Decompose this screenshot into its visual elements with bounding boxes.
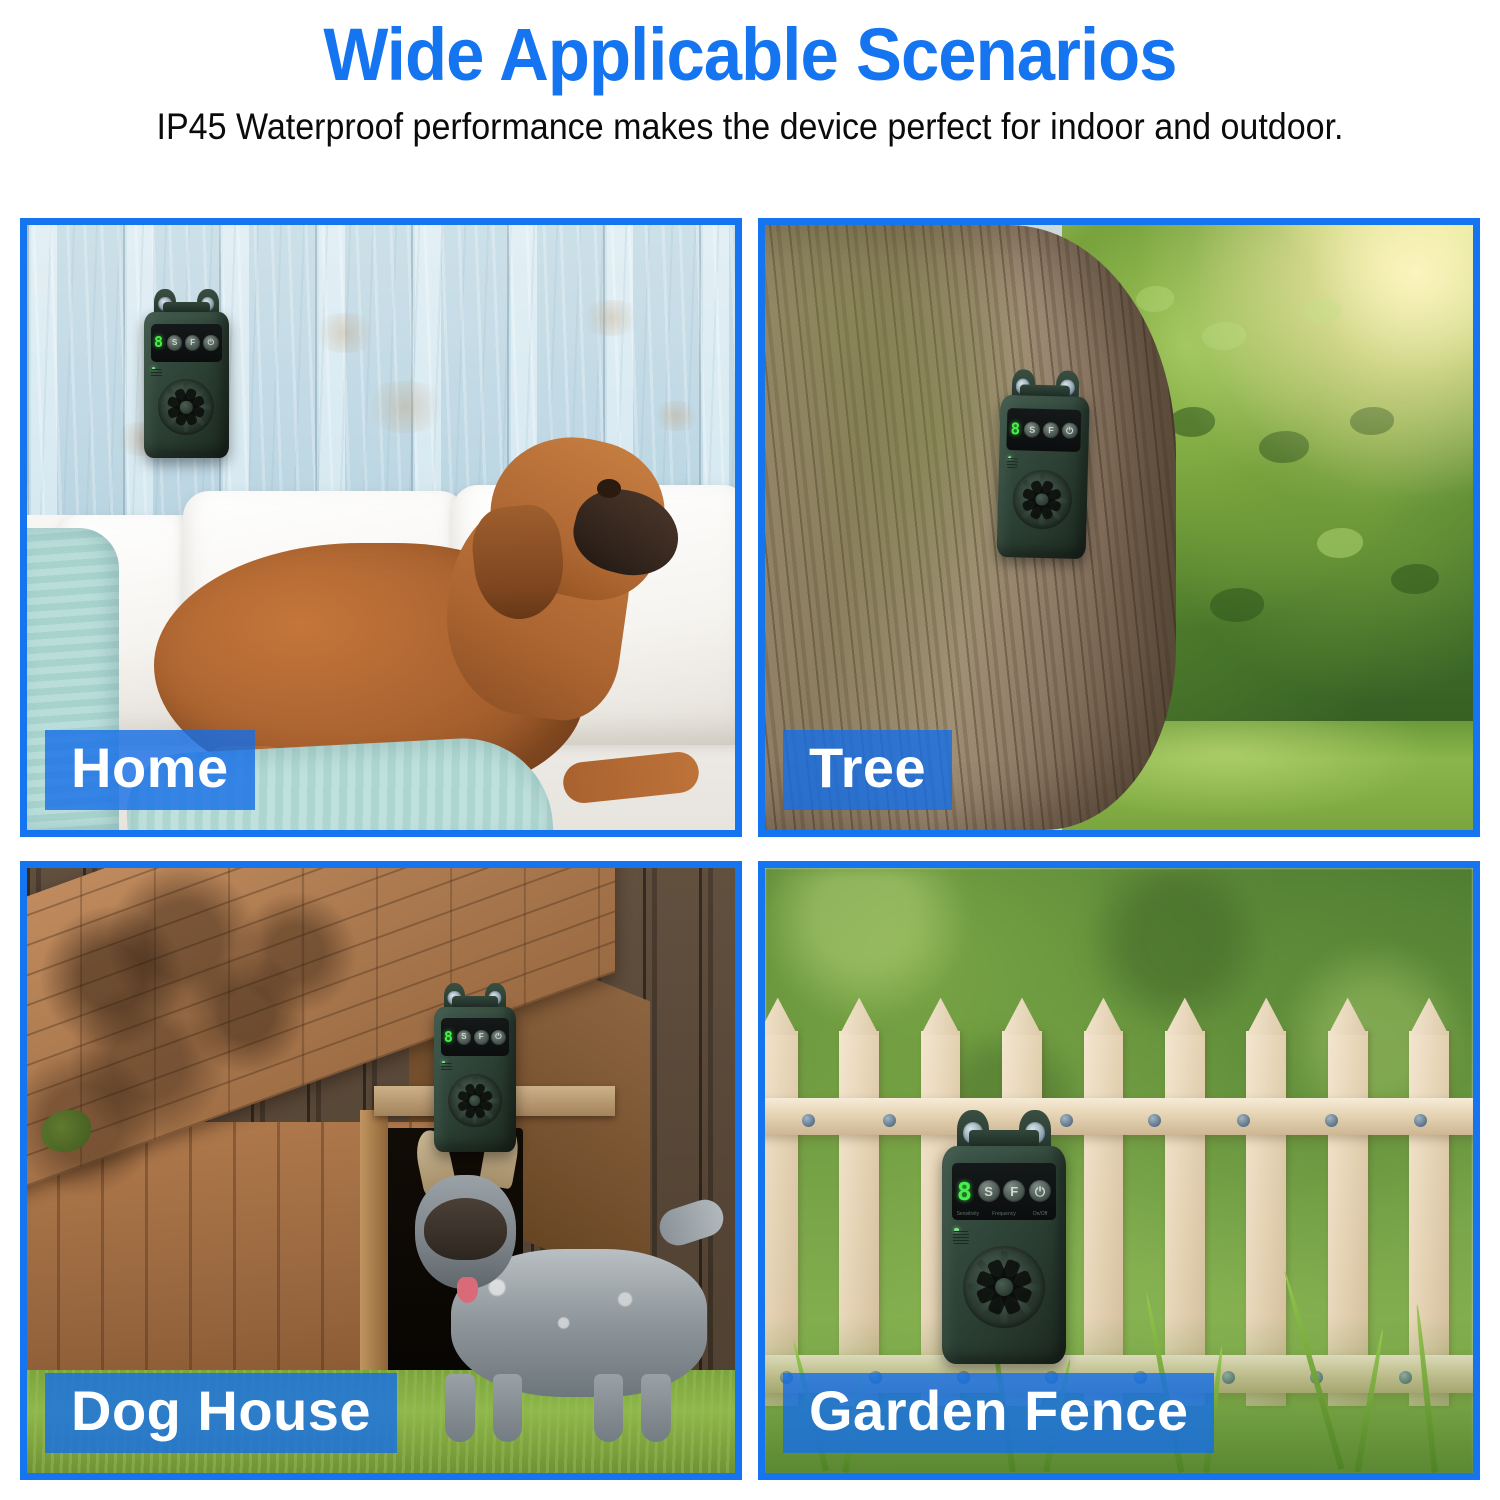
knob-row: S F ⏻ (1023, 417, 1077, 444)
scenario-panel-home[interactable]: 8 S F ⏻ (20, 218, 742, 837)
scenario-grid: 8 S F ⏻ (20, 218, 1480, 1480)
caption-garden-fence-label: Garden Fence (809, 1380, 1188, 1442)
knob-label-row: Sensitivity Frequency On/Off (952, 1211, 1056, 1217)
knob-power[interactable]: ⏻ (1061, 423, 1077, 439)
dog-leg-front-left (445, 1374, 475, 1442)
knob-frequency[interactable]: F (1003, 1180, 1025, 1202)
speaker-grille (1012, 470, 1072, 530)
device-body: 8 S F ⏻ (144, 312, 229, 458)
speaker-hub (995, 1278, 1013, 1296)
device-body: 8 S F ⏻ (434, 1007, 515, 1153)
knob-sensitivity[interactable]: S (167, 335, 183, 351)
caption-home: Home (45, 730, 255, 810)
dog-cattle-dog (409, 1152, 706, 1436)
seven-segment-display: 8 (444, 1030, 453, 1045)
knob-frequency[interactable]: F (1042, 422, 1058, 438)
knob-label-power: On/Off (1024, 1211, 1056, 1217)
seven-segment-display: 8 (957, 1179, 972, 1204)
speaker-grille (448, 1074, 502, 1128)
dog-house-post (360, 1110, 388, 1400)
device-garden-fence[interactable]: 8 S F ⏻ Sensitivity Frequency On/Off (942, 1110, 1066, 1364)
knob-row: S F ⏻ (167, 331, 219, 354)
caption-tree: Tree (783, 730, 952, 810)
knob-sensitivity[interactable]: S (978, 1180, 1000, 1202)
caption-dog-house-label: Dog House (71, 1380, 371, 1442)
page-subtitle: IP45 Waterproof performance makes the de… (60, 96, 1440, 150)
knob-power[interactable]: ⏻ (203, 335, 219, 351)
knob-label-frequency: Frequency (988, 1211, 1020, 1217)
device-dog-house[interactable]: 8 S F ⏻ (434, 983, 515, 1152)
seven-segment-display: 8 (1010, 421, 1020, 437)
device-body: 8 S F ⏻ (996, 395, 1089, 559)
dog-tongue (457, 1277, 478, 1303)
speaker-hub (469, 1095, 481, 1107)
knob-row: S F ⏻ (978, 1174, 1051, 1209)
knob-frequency[interactable]: F (185, 335, 201, 351)
caption-home-label: Home (71, 737, 229, 799)
knob-frequency[interactable]: F (474, 1030, 489, 1045)
knob-label-sensitivity: Sensitivity (952, 1211, 984, 1217)
control-panel: 8 S F ⏻ (1006, 408, 1081, 452)
speaker-grille (963, 1246, 1045, 1328)
dog-eye (597, 479, 621, 498)
dog-face-mask (424, 1198, 507, 1261)
caption-tree-label: Tree (809, 737, 926, 799)
knob-row: S F ⏻ (457, 1025, 506, 1048)
device-tree[interactable]: 8 S F ⏻ (996, 369, 1089, 559)
vent-slots-icon (953, 1231, 969, 1244)
speaker-grille (158, 379, 214, 435)
dog-leg-rear-left (594, 1374, 624, 1442)
bracket-bar (969, 1130, 1038, 1147)
dog-leg-rear-right (641, 1374, 671, 1442)
bracket-bar (452, 996, 498, 1008)
caption-garden-fence: Garden Fence (783, 1373, 1214, 1453)
vent-slots-icon (151, 369, 162, 378)
control-panel: 8 S F ⏻ (151, 324, 222, 362)
fence-rail-top (765, 1098, 1473, 1136)
control-panel: 8 S F ⏻ (441, 1018, 509, 1056)
device-home[interactable]: 8 S F ⏻ (144, 289, 229, 458)
vent-slots-icon (441, 1063, 452, 1072)
knob-power[interactable]: ⏻ (491, 1030, 506, 1045)
vent-slots-icon (1006, 458, 1018, 468)
knob-sensitivity[interactable]: S (457, 1030, 472, 1045)
header: Wide Applicable Scenarios IP45 Waterproo… (0, 0, 1500, 150)
dog-leg-front-right (493, 1374, 523, 1442)
seven-segment-display: 8 (154, 335, 163, 350)
scenario-panel-dog-house[interactable]: 8 S F ⏻ (20, 861, 742, 1480)
speaker-hub (1035, 493, 1048, 506)
caption-dog-house: Dog House (45, 1373, 397, 1453)
knob-power[interactable]: ⏻ (1029, 1180, 1051, 1202)
knob-sensitivity[interactable]: S (1024, 422, 1040, 438)
scenario-panel-tree[interactable]: 8 S F ⏻ (758, 218, 1480, 837)
page-title: Wide Applicable Scenarios (53, 14, 1448, 96)
device-body: 8 S F ⏻ Sensitivity Frequency On/Off (942, 1146, 1066, 1365)
scenario-panel-garden-fence[interactable]: 8 S F ⏻ Sensitivity Frequency On/Off (758, 861, 1480, 1480)
